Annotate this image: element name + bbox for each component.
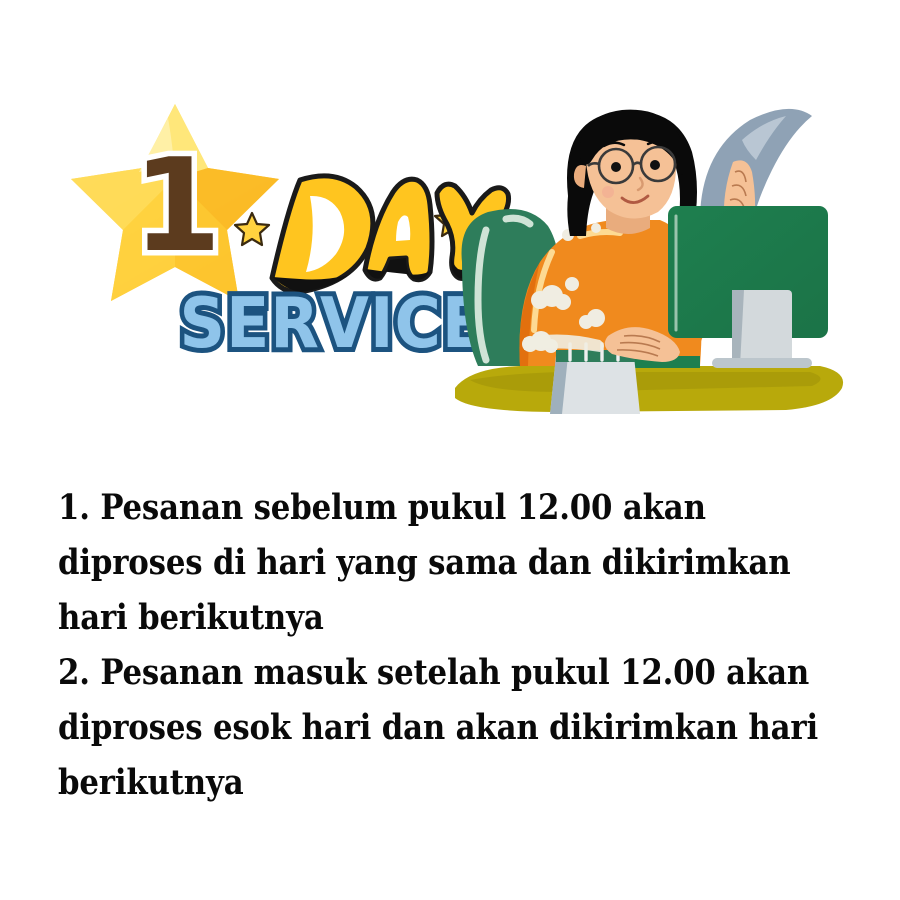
- terms-line: hari berikutnya: [58, 590, 753, 645]
- terms-line: 2. Pesanan masuk setelah pukul 12.00 aka…: [58, 645, 753, 700]
- terms-text-block: 1. Pesanan sebelum pukul 12.00 akan dipr…: [58, 480, 848, 810]
- terms-line: berikutnya: [58, 755, 753, 810]
- poster-canvas: 1: [0, 0, 900, 900]
- terms-line: diproses di hari yang sama dan dikirimka…: [58, 535, 753, 590]
- header-illustration: 1: [0, 0, 900, 450]
- terms-line: diproses esok hari dan akan dikirimkan h…: [58, 700, 753, 755]
- svg-text:1: 1: [132, 132, 219, 281]
- badge-number-1: 1: [132, 132, 219, 281]
- sparkle-star-icon-left: [235, 213, 269, 245]
- desk-scene-illustration: [455, 109, 843, 414]
- terms-line: 1. Pesanan sebelum pukul 12.00 akan: [58, 480, 753, 535]
